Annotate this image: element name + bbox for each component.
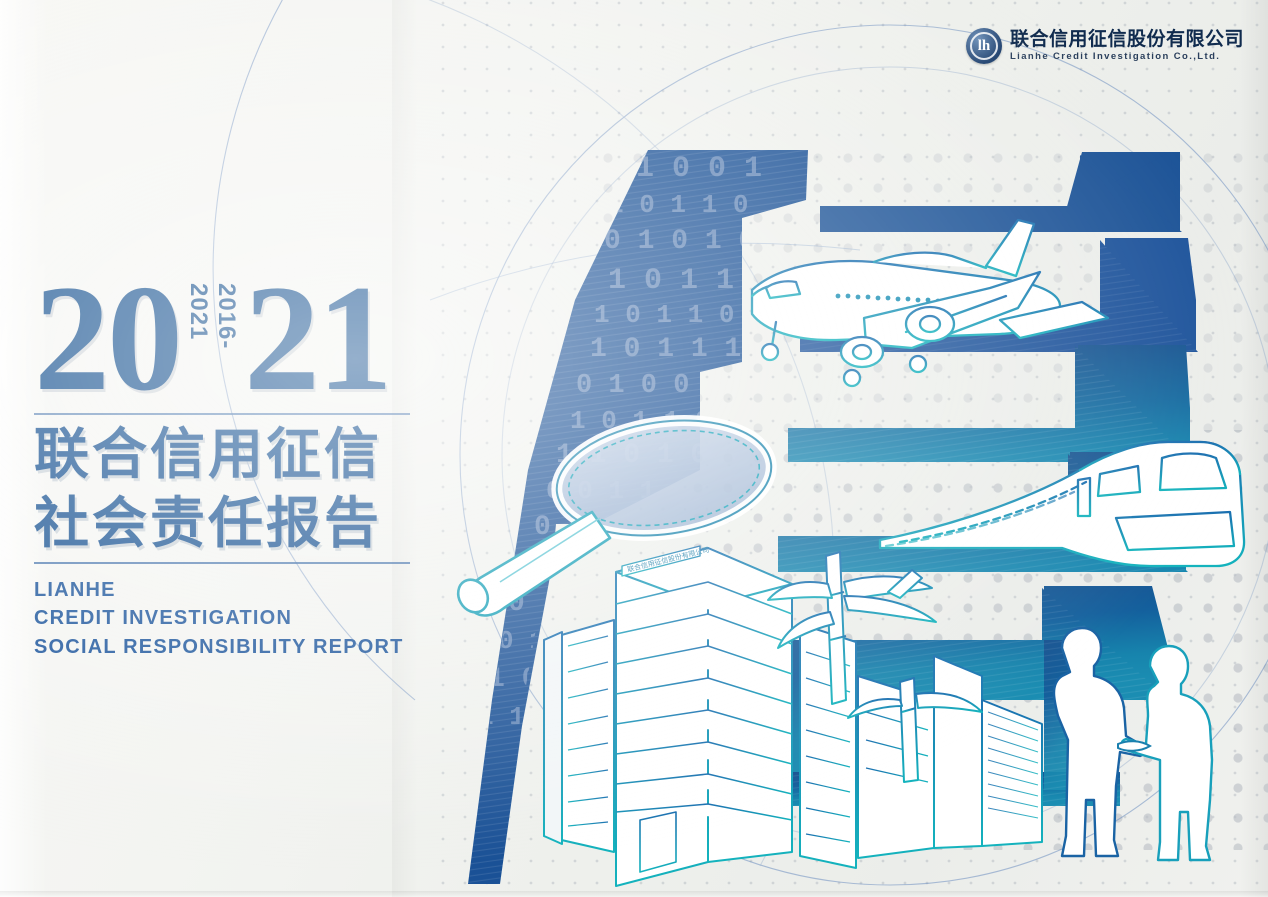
svg-text:1 0 1 1 0: 1 0 1 1 0 (608, 190, 748, 220)
divider-top (34, 413, 410, 415)
logo-text: 联合信用征信股份有限公司 Lianhe Credit Investigation… (1010, 29, 1244, 64)
svg-text:1 0 0 1: 1 0 0 1 (636, 152, 762, 186)
title-en-block: LIANHE CREDIT INVESTIGATION SOCIAL RESPO… (34, 576, 454, 661)
year-part-a: 20 (34, 270, 180, 407)
title-cn-line1: 联合信用征信 (34, 425, 454, 484)
title-en-line2: CREDIT INVESTIGATION (34, 604, 454, 632)
logo-monogram-text: lh (966, 28, 1002, 64)
logo-company-cn: 联合信用征信股份有限公司 (1010, 29, 1244, 51)
logo-monogram-icon: lh (966, 28, 1002, 64)
bottom-edge-shadow (0, 891, 1268, 897)
cover-title-block: 20 2016-2021 21 联合信用征信 社会责任报告 LIANHE CRE… (34, 272, 454, 661)
title-cn-line2: 社会责任报告 (34, 494, 454, 553)
title-en-line3: SOCIAL RESPONSIBILITY REPORT (34, 633, 454, 661)
year-part-b: 21 (244, 270, 390, 407)
divider-bottom (34, 562, 410, 564)
logo-company-en: Lianhe Credit Investigation Co.,Ltd. (1010, 52, 1244, 63)
title-en-line1: LIANHE (34, 576, 454, 604)
report-cover: 1 0 0 1 1 0 1 1 0 0 1 0 1 0 1 1 0 1 0 1 … (0, 0, 1268, 897)
company-logo: lh 联合信用征信股份有限公司 Lianhe Credit Investigat… (966, 28, 1244, 64)
year-row: 20 2016-2021 21 (34, 272, 454, 407)
year-range: 2016-2021 (184, 283, 240, 401)
